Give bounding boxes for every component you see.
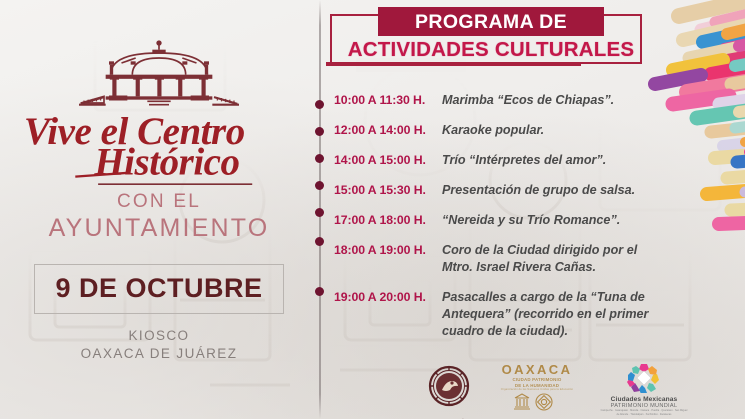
- program-row-time: 10:00 A 11:30 H.: [334, 92, 442, 109]
- ciudades-mexicanas-patrimonio-mundial-logo: Ciudades Mexicanas PATRIMONIO MUNDIAL Ca…: [600, 363, 688, 417]
- colorful-capsules-decoration: [627, 0, 745, 240]
- ciudades-line-3: Campeche · Guanajuato · Morelia · Oaxaca…: [600, 409, 688, 416]
- program-row-activity: Pasacalles a cargo de la “Tuna de Antequ…: [442, 289, 664, 340]
- header-title-text: PROGRAMA DE ACTIVIDADES CULTURALES: [378, 7, 604, 62]
- program-row: 15:00 A 15:30 H. Presentación de grupo d…: [334, 182, 664, 199]
- program-row: 14:00 A 15:00 H. Trío “Intérpretes del a…: [334, 152, 664, 169]
- program-row-time: 17:00 A 18:00 H.: [334, 212, 442, 229]
- bracket-bottom-rule: [326, 62, 581, 66]
- header-title-line1: PROGRAMA DE: [378, 7, 604, 36]
- header-title-block: PROGRAMA DE ACTIVIDADES CULTURALES: [330, 6, 650, 68]
- timeline-dot: [315, 100, 324, 109]
- event-date: 9 DE OCTUBRE: [55, 273, 262, 304]
- left-panel: Vive el Centro Histórico CON EL AYUNTAMI…: [0, 0, 318, 419]
- venue-block: KIOSCO OAXACA DE JUÁREZ: [81, 327, 238, 363]
- program-row: 12:00 A 14:00 H. Karaoke popular.: [334, 122, 664, 139]
- program-row-time: 19:00 A 20:00 H.: [334, 289, 442, 340]
- timeline-dot: [315, 181, 324, 190]
- script-title-line2: Histórico: [93, 141, 239, 184]
- program-row-time: 12:00 A 14:00 H.: [334, 122, 442, 139]
- venue-line-1: KIOSCO: [81, 327, 238, 345]
- oaxaca-unesco-caption: Organización de las Naciones Unidas para…: [496, 388, 578, 391]
- timeline-dot: [315, 287, 324, 296]
- oaxaca-de-juarez-seal: OAXACA DE JUÁREZ H. AYUNTAMIENTO CONSTIT…: [412, 364, 486, 418]
- program-list: 10:00 A 11:30 H. Marimba “Ecos de Chiapa…: [334, 92, 664, 353]
- oaxaca-wordmark: OAXACA: [496, 362, 578, 377]
- program-row-time: 15:00 A 15:30 H.: [334, 182, 442, 199]
- program-row: 10:00 A 11:30 H. Marimba “Ecos de Chiapa…: [334, 92, 664, 109]
- script-title: Vive el Centro Histórico: [14, 110, 304, 188]
- footer-logos: OAXACA DE JUÁREZ H. AYUNTAMIENTO CONSTIT…: [404, 358, 745, 419]
- ciudades-line-1: Ciudades Mexicanas: [600, 396, 688, 403]
- subtitle-ayuntamiento: AYUNTAMIENTO: [49, 215, 270, 242]
- venue-line-2: OAXACA DE JUÁREZ: [81, 345, 238, 363]
- program-row-time: 14:00 A 15:00 H.: [334, 152, 442, 169]
- timeline-dot: [315, 208, 324, 217]
- program-row-time: 18:00 A 19:00 H.: [334, 242, 442, 276]
- header-title-line2: ACTIVIDADES CULTURALES: [346, 38, 636, 62]
- poster-canvas: Vive el Centro Histórico CON EL AYUNTAMI…: [0, 0, 745, 419]
- timeline-dot: [315, 154, 324, 163]
- kiosk-gazebo-icon: [74, 38, 244, 108]
- date-box: 9 DE OCTUBRE: [34, 264, 283, 314]
- program-row: 19:00 A 20:00 H. Pasacalles a cargo de l…: [334, 289, 664, 340]
- oaxaca-ciudad-patrimonio-logo: OAXACA CIUDAD PATRIMONIO DE LA HUMANIDAD…: [496, 362, 578, 418]
- program-row: 18:00 A 19:00 H. Coro de la Ciudad dirig…: [334, 242, 664, 276]
- timeline-dot: [315, 127, 324, 136]
- program-row: 17:00 A 18:00 H. “Nereida y su Trío Roma…: [334, 212, 664, 229]
- subtitle-con-el: CON EL: [117, 192, 201, 213]
- timeline-dot: [315, 237, 324, 246]
- program-row-activity: Coro de la Ciudad dirigido por el Mtro. …: [442, 242, 664, 276]
